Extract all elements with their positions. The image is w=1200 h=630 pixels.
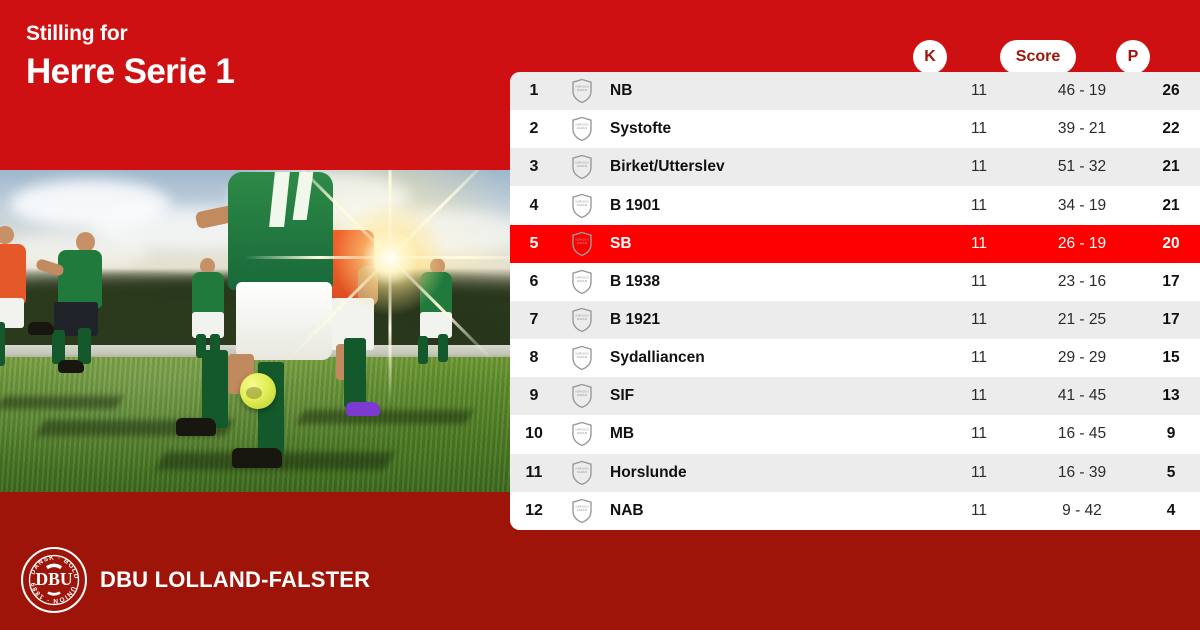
club-crest-icon: A.BRUDSOIMHOLM (558, 345, 606, 371)
row-goal-score: 26 - 19 (1022, 235, 1142, 253)
svg-text:IMHOLM: IMHOLM (577, 164, 587, 168)
table-row[interactable]: 8A.BRUDSOIMHOLMSydalliancen1129 - 2915 (510, 339, 1200, 377)
row-position: 8 (510, 349, 558, 367)
row-team-name: Horslunde (606, 464, 936, 482)
svg-text:IMHOLM: IMHOLM (577, 469, 587, 473)
row-points: 15 (1142, 349, 1200, 367)
table-row[interactable]: 6A.BRUDSOIMHOLMB 19381123 - 1617 (510, 263, 1200, 301)
row-goal-score: 23 - 16 (1022, 273, 1142, 291)
row-matches-played: 11 (936, 502, 1022, 520)
row-position: 3 (510, 158, 558, 176)
row-goal-score: 34 - 19 (1022, 197, 1142, 215)
row-position: 10 (510, 425, 558, 443)
header-kicker: Stilling for (26, 22, 127, 46)
row-matches-played: 11 (936, 387, 1022, 405)
row-matches-played: 11 (936, 235, 1022, 253)
row-goal-score: 41 - 45 (1022, 387, 1142, 405)
soccer-match-photo (0, 170, 510, 492)
row-points: 17 (1142, 311, 1200, 329)
row-position: 7 (510, 311, 558, 329)
table-row[interactable]: 7A.BRUDSOIMHOLMB 19211121 - 2517 (510, 301, 1200, 339)
row-team-name: Sydalliancen (606, 349, 936, 367)
row-goal-score: 29 - 29 (1022, 349, 1142, 367)
row-matches-played: 11 (936, 120, 1022, 138)
standings-table: 1A.BRUDSOIMHOLMNB1146 - 19262A.BRUDSOIMH… (510, 72, 1200, 530)
row-matches-played: 11 (936, 82, 1022, 100)
row-goal-score: 46 - 19 (1022, 82, 1142, 100)
football (240, 373, 276, 409)
svg-text:IMHOLM: IMHOLM (577, 241, 587, 245)
row-position: 6 (510, 273, 558, 291)
sun-ray (389, 170, 392, 262)
table-row[interactable]: 11A.BRUDSOIMHOLMHorslunde1116 - 395 (510, 454, 1200, 492)
row-matches-played: 11 (936, 464, 1022, 482)
row-position: 12 (510, 502, 558, 520)
club-crest-icon: A.BRUDSOIMHOLM (558, 78, 606, 104)
row-team-name: Systofte (606, 120, 936, 138)
row-matches-played: 11 (936, 425, 1022, 443)
row-team-name: NAB (606, 502, 936, 520)
svg-text:DBU: DBU (35, 569, 73, 589)
row-team-name: B 1901 (606, 197, 936, 215)
club-crest-icon: A.BRUDSOIMHOLM (558, 383, 606, 409)
table-row[interactable]: 9A.BRUDSOIMHOLMSIF1141 - 4513 (510, 377, 1200, 415)
player-shadow (296, 410, 473, 424)
row-points: 22 (1142, 120, 1200, 138)
svg-text:IMHOLM: IMHOLM (577, 88, 587, 92)
club-crest-icon: A.BRUDSOIMHOLM (558, 116, 606, 142)
row-team-name: B 1938 (606, 273, 936, 291)
row-matches-played: 11 (936, 197, 1022, 215)
row-points: 9 (1142, 425, 1200, 443)
row-matches-played: 11 (936, 311, 1022, 329)
row-goal-score: 51 - 32 (1022, 158, 1142, 176)
row-team-name: SB (606, 235, 936, 253)
row-position: 1 (510, 82, 558, 100)
table-row[interactable]: 3A.BRUDSOIMHOLMBirket/Utterslev1151 - 32… (510, 148, 1200, 186)
club-crest-icon: A.BRUDSOIMHOLM (558, 231, 606, 257)
row-position: 4 (510, 197, 558, 215)
sun-ray (244, 256, 394, 259)
svg-text:IMHOLM: IMHOLM (577, 431, 587, 435)
svg-text:IMHOLM: IMHOLM (577, 317, 587, 321)
table-row[interactable]: 10A.BRUDSOIMHOLMMB1116 - 459 (510, 415, 1200, 453)
row-team-name: Birket/Utterslev (606, 158, 936, 176)
row-points: 17 (1142, 273, 1200, 291)
club-crest-icon: A.BRUDSOIMHOLM (558, 498, 606, 524)
svg-text:IMHOLM: IMHOLM (577, 126, 587, 130)
dbu-crest-logo: DANSK · BOLDSPIL · UNION · 1889 · DBU (20, 546, 88, 614)
table-row[interactable]: 5A.BRUDSOIMHOLMSB1126 - 1920 (510, 225, 1200, 263)
svg-text:IMHOLM: IMHOLM (577, 393, 587, 397)
row-goal-score: 9 - 42 (1022, 502, 1142, 520)
club-crest-icon: A.BRUDSOIMHOLM (558, 269, 606, 295)
sun-ray (389, 254, 392, 404)
row-position: 11 (510, 464, 558, 482)
row-team-name: SIF (606, 387, 936, 405)
column-badge-k: K (913, 40, 947, 74)
club-crest-icon: A.BRUDSOIMHOLM (558, 154, 606, 180)
header: Stilling for Herre Serie 1 (0, 0, 520, 170)
svg-text:IMHOLM: IMHOLM (577, 355, 587, 359)
row-position: 2 (510, 120, 558, 138)
svg-text:IMHOLM: IMHOLM (577, 279, 587, 283)
sun-ray (386, 256, 510, 259)
club-crest-icon: A.BRUDSOIMHOLM (558, 307, 606, 333)
row-points: 4 (1142, 502, 1200, 520)
standings-graphic: Stilling for Herre Serie 1 (0, 0, 1200, 630)
player-shadow (0, 396, 123, 409)
row-points: 13 (1142, 387, 1200, 405)
row-position: 5 (510, 235, 558, 253)
row-points: 20 (1142, 235, 1200, 253)
row-points: 26 (1142, 82, 1200, 100)
row-goal-score: 21 - 25 (1022, 311, 1142, 329)
column-badge-p: P (1116, 40, 1150, 74)
footer-title: DBU LOLLAND-FALSTER (100, 567, 370, 593)
table-row[interactable]: 1A.BRUDSOIMHOLMNB1146 - 1926 (510, 72, 1200, 110)
page-title: Herre Serie 1 (26, 52, 234, 92)
table-row[interactable]: 2A.BRUDSOIMHOLMSystofte1139 - 2122 (510, 110, 1200, 148)
column-badge-score: Score (1000, 40, 1076, 74)
row-team-name: NB (606, 82, 936, 100)
row-team-name: B 1921 (606, 311, 936, 329)
row-goal-score: 16 - 39 (1022, 464, 1142, 482)
club-crest-icon: A.BRUDSOIMHOLM (558, 193, 606, 219)
row-points: 5 (1142, 464, 1200, 482)
row-points: 21 (1142, 197, 1200, 215)
row-position: 9 (510, 387, 558, 405)
table-row[interactable]: 4A.BRUDSOIMHOLMB 19011134 - 1921 (510, 186, 1200, 224)
row-team-name: MB (606, 425, 936, 443)
row-matches-played: 11 (936, 158, 1022, 176)
svg-text:IMHOLM: IMHOLM (577, 202, 587, 206)
column-badges: K Score P (510, 40, 1200, 74)
row-goal-score: 39 - 21 (1022, 120, 1142, 138)
svg-text:IMHOLM: IMHOLM (577, 508, 587, 512)
club-crest-icon: A.BRUDSOIMHOLM (558, 460, 606, 486)
row-points: 21 (1142, 158, 1200, 176)
row-goal-score: 16 - 45 (1022, 425, 1142, 443)
row-matches-played: 11 (936, 349, 1022, 367)
table-row[interactable]: 12A.BRUDSOIMHOLMNAB119 - 424 (510, 492, 1200, 530)
club-crest-icon: A.BRUDSOIMHOLM (558, 421, 606, 447)
row-matches-played: 11 (936, 273, 1022, 291)
